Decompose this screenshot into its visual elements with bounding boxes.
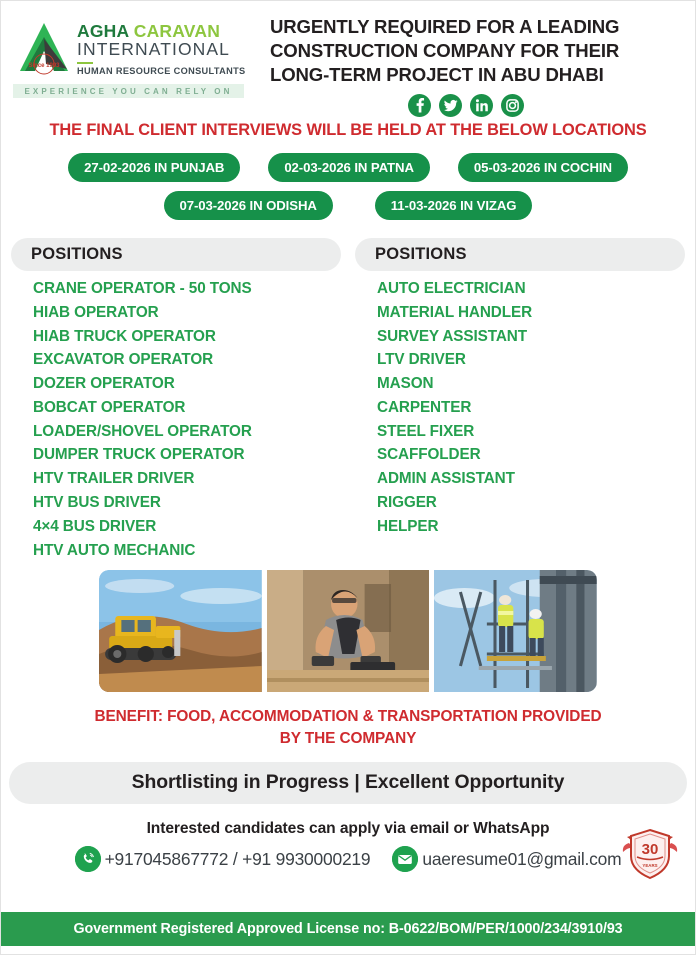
apply-instructions: Interested candidates can apply via emai… — [1, 820, 695, 838]
list-item: RIGGER — [377, 491, 685, 515]
svg-text:Since 1993: Since 1993 — [28, 63, 60, 69]
logo-name-agha: AGHA — [77, 21, 129, 41]
mountain-logo-icon: Since 1993 — [13, 17, 75, 79]
social-icons-row — [270, 94, 683, 117]
linkedin-icon[interactable] — [470, 94, 493, 117]
interviews-heading: THE FINAL CLIENT INTERVIEWS WILL BE HELD… — [1, 119, 695, 140]
list-item: AUTO ELECTRICIAN — [377, 277, 685, 301]
list-item: MATERIAL HANDLER — [377, 301, 685, 325]
positions-section: POSITIONS CRANE OPERATOR - 50 TONS HIAB … — [1, 238, 695, 562]
email-address: uaeresume01@gmail.com — [422, 849, 621, 870]
benefit-text: BENEFIT: FOOD, ACCOMMODATION & TRANSPORT… — [1, 706, 695, 750]
email-contact[interactable]: uaeresume01@gmail.com — [392, 846, 621, 872]
list-item: DUMPER TRUCK OPERATOR — [33, 443, 341, 467]
headline-line-1: URGENTLY REQUIRED FOR A LEADING — [270, 15, 683, 39]
contact-row: +917045867772 / +91 9930000219 uaeresume… — [1, 846, 695, 872]
list-item: LTV DRIVER — [377, 348, 685, 372]
list-item: MASON — [377, 372, 685, 396]
twitter-icon[interactable] — [439, 94, 462, 117]
list-item: HIAB OPERATOR — [33, 301, 341, 325]
photo-bulldozer — [99, 570, 262, 692]
logo-wordmark: AGHA CARAVAN INTERNATIONAL HUMAN RESOURC… — [77, 20, 256, 76]
list-item: SCAFFOLDER — [377, 443, 685, 467]
interview-date-badge[interactable]: 27-02-2026 IN PUNJAB — [68, 153, 240, 182]
list-item: CARPENTER — [377, 396, 685, 420]
phone-contact[interactable]: +917045867772 / +91 9930000219 — [75, 846, 371, 872]
positions-column-right: POSITIONS AUTO ELECTRICIAN MATERIAL HAND… — [355, 238, 685, 562]
list-item: HTV TRAILER DRIVER — [33, 467, 341, 491]
logo-name-caravan: CARAVAN — [134, 21, 220, 41]
list-item: HTV AUTO MECHANIC — [33, 539, 341, 563]
envelope-icon — [392, 846, 418, 872]
photo-scaffolders — [434, 570, 597, 692]
list-item: DOZER OPERATOR — [33, 372, 341, 396]
list-item: STEEL FIXER — [377, 420, 685, 444]
positions-column-left: POSITIONS CRANE OPERATOR - 50 TONS HIAB … — [11, 238, 341, 562]
facebook-icon[interactable] — [408, 94, 431, 117]
list-item: HELPER — [377, 515, 685, 539]
positions-header-right: POSITIONS — [355, 238, 685, 271]
list-item: EXCAVATOR OPERATOR — [33, 348, 341, 372]
logo-divider — [77, 62, 93, 64]
list-item: SURVEY ASSISTANT — [377, 325, 685, 349]
list-item: LOADER/SHOVEL OPERATOR — [33, 420, 341, 444]
job-advertisement-poster: Since 1993 AGHA CARAVAN INTERNATIONAL HU… — [0, 0, 696, 955]
interview-date-badge[interactable]: 11-03-2026 IN VIZAG — [375, 191, 533, 220]
interview-dates-row-2: 07-03-2026 IN ODISHA 11-03-2026 IN VIZAG — [1, 191, 695, 220]
logo-international: INTERNATIONAL — [77, 40, 256, 60]
headline-block: URGENTLY REQUIRED FOR A LEADING CONSTRUC… — [256, 11, 683, 117]
whatsapp-icon — [75, 846, 101, 872]
list-item: HIAB TRUCK OPERATOR — [33, 325, 341, 349]
benefit-line-2: BY THE COMPANY — [13, 728, 683, 750]
positions-list-right: AUTO ELECTRICIAN MATERIAL HANDLER SURVEY… — [355, 271, 685, 539]
anniversary-number: 30 — [642, 841, 659, 858]
phone-numbers: +917045867772 / +91 9930000219 — [105, 849, 371, 870]
svg-text:YEARS: YEARS — [642, 863, 657, 868]
positions-list-left: CRANE OPERATOR - 50 TONS HIAB OPERATOR H… — [11, 271, 341, 562]
logo-name-line: AGHA CARAVAN — [77, 22, 256, 41]
logo-tagline: EXPERIENCE YOU CAN RELY ON — [13, 84, 244, 98]
photo-carpenter — [267, 570, 430, 692]
logo-top-row: Since 1993 AGHA CARAVAN INTERNATIONAL HU… — [13, 17, 256, 79]
headline-line-2: CONSTRUCTION COMPANY FOR THEIR — [270, 39, 683, 63]
list-item: HTV BUS DRIVER — [33, 491, 341, 515]
interview-date-badge[interactable]: 07-03-2026 IN ODISHA — [164, 191, 333, 220]
photo-strip — [99, 570, 597, 692]
list-item: BOBCAT OPERATOR — [33, 396, 341, 420]
interview-date-badge[interactable]: 02-03-2026 IN PATNA — [268, 153, 430, 182]
headline-line-3: LONG-TERM PROJECT IN ABU DHABI — [270, 63, 683, 87]
positions-header-left: POSITIONS — [11, 238, 341, 271]
list-item: ADMIN ASSISTANT — [377, 467, 685, 491]
interview-dates-row-1: 27-02-2026 IN PUNJAB 02-03-2026 IN PATNA… — [1, 153, 695, 182]
anniversary-badge-icon: 30 YEARS — [619, 823, 681, 885]
benefit-line-1: BENEFIT: FOOD, ACCOMMODATION & TRANSPORT… — [13, 706, 683, 728]
logo-subtitle: HUMAN RESOURCE CONSULTANTS — [77, 66, 256, 76]
instagram-icon[interactable] — [501, 94, 524, 117]
company-logo: Since 1993 AGHA CARAVAN INTERNATIONAL HU… — [13, 11, 256, 98]
list-item: 4×4 BUS DRIVER — [33, 515, 341, 539]
license-footer: Government Registered Approved License n… — [1, 912, 695, 946]
poster-header: Since 1993 AGHA CARAVAN INTERNATIONAL HU… — [1, 1, 695, 119]
list-item: CRANE OPERATOR - 50 TONS — [33, 277, 341, 301]
shortlisting-banner: Shortlisting in Progress | Excellent Opp… — [9, 762, 687, 804]
interview-date-badge[interactable]: 05-03-2026 IN COCHIN — [458, 153, 628, 182]
